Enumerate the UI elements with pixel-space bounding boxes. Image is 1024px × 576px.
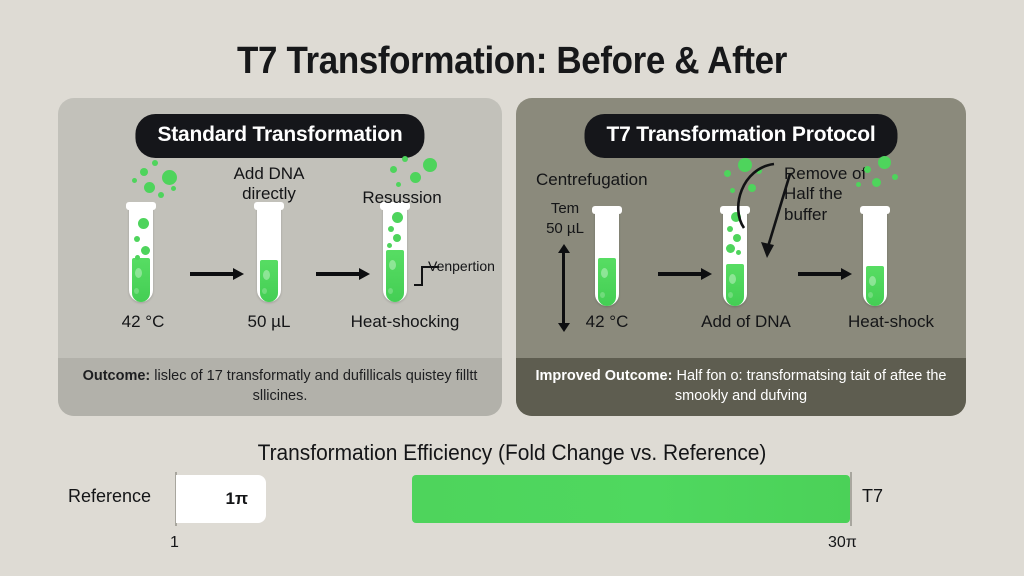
- annotation-resuspension: Resussion: [343, 188, 461, 208]
- test-tube-left-3: [380, 198, 410, 302]
- bar-reference-value: 1π: [226, 489, 248, 509]
- arrow-shaft: [316, 272, 359, 276]
- annotation-volume-top: Tem: [530, 200, 600, 218]
- step-label-right-3: Heat-shock: [826, 312, 956, 332]
- chart-category-t7: T7: [862, 486, 883, 507]
- bubble-icon: [152, 160, 158, 166]
- panel-right-body: T7 Transformation Protocol Centrefugatio…: [516, 98, 966, 358]
- step-label-left-3: Heat-shocking: [330, 312, 480, 332]
- arrow-shaft: [190, 272, 233, 276]
- test-tube-left-2: [254, 198, 284, 302]
- flow-arrow-left-1: [190, 268, 244, 280]
- test-tube-right-1: [592, 202, 622, 306]
- annotation-volume-bottom: 50 µL: [530, 220, 600, 238]
- arrow-shaft: [658, 272, 701, 276]
- footer-right-text: Half fon o: transformatsing tait of afte…: [672, 368, 946, 404]
- tube-liquid: [386, 250, 404, 302]
- tube-liquid: [866, 266, 884, 306]
- panel-left-body: Standard Transformation 42 °C: [58, 98, 502, 358]
- bubble-icon: [392, 212, 403, 223]
- annotation-add-dna: Add DNAdirectly: [213, 164, 325, 205]
- bubble-icon: [892, 174, 898, 180]
- bubble-icon: [872, 178, 881, 187]
- bubble-icon: [864, 166, 871, 173]
- panel-right-footer: Improved Outcome: Half fon o: transforma…: [516, 358, 966, 416]
- bubble-icon: [423, 158, 437, 172]
- bubble-icon: [390, 166, 397, 173]
- bubble-icon: [141, 246, 150, 255]
- test-tube-right-3: [860, 202, 890, 306]
- axis-tick-right: [850, 472, 852, 526]
- chart-category-reference: Reference: [68, 486, 151, 507]
- footer-left-strong: Outcome:: [83, 368, 151, 384]
- test-tube-left-1: [126, 198, 156, 302]
- arrow-head: [841, 268, 852, 280]
- bubble-icon: [393, 234, 401, 242]
- flow-arrow-right-2: [798, 268, 852, 280]
- step-label-right-1: 42 °C: [552, 312, 662, 332]
- bubble-icon: [396, 182, 401, 187]
- arrow-head: [701, 268, 712, 280]
- axis-tick-label-min: 1: [170, 534, 179, 552]
- bubble-icon: [402, 156, 408, 162]
- panel-left-badge: Standard Transformation: [135, 114, 424, 158]
- bar-t7[interactable]: [412, 475, 850, 523]
- flow-arrow-right-1: [658, 268, 712, 280]
- bubble-icon: [144, 182, 155, 193]
- step-label-left-1: 42 °C: [88, 312, 198, 332]
- bubble-icon: [158, 192, 164, 198]
- efficiency-bar-chart: Reference 1π T7 1 30π: [0, 472, 1024, 562]
- bubble-icon: [388, 226, 394, 232]
- panel-standard-transformation: Standard Transformation 42 °C: [58, 98, 502, 416]
- annotation-centrifugation: Centrefugation: [536, 170, 706, 190]
- panel-left-footer: Outcome: lislec of 17 transformatly and …: [58, 358, 502, 416]
- footer-left-text: lislec of 17 transformatly and dufillica…: [150, 368, 477, 404]
- bubble-icon: [135, 255, 140, 260]
- panel-t7-protocol: T7 Transformation Protocol Centrefugatio…: [516, 98, 966, 416]
- tube-liquid: [132, 258, 150, 302]
- axis-tick-label-max: 30π: [828, 534, 857, 552]
- step-label-right-2: Add of DNA: [676, 312, 816, 332]
- page-title: T7 Transformation: Before & After: [41, 40, 983, 83]
- bubble-icon: [134, 236, 140, 242]
- bubble-icon: [171, 186, 176, 191]
- bubble-icon: [878, 156, 891, 169]
- bubble-icon: [162, 170, 177, 185]
- infographic-root: T7 Transformation: Before & After Standa…: [0, 0, 1024, 576]
- bubble-icon: [132, 178, 137, 183]
- arrow-head: [233, 268, 244, 280]
- arrow-shaft: [798, 272, 841, 276]
- tube-rim: [126, 202, 156, 210]
- bubble-icon: [140, 168, 148, 176]
- bubble-icon: [138, 218, 149, 229]
- footer-right-strong: Improved Outcome:: [535, 368, 672, 384]
- step-label-left-2: 50 µL: [214, 312, 324, 332]
- annotation-venpertion: Venpertion: [428, 258, 502, 275]
- chart-title: Transformation Efficiency (Fold Change v…: [26, 440, 999, 466]
- bubble-icon: [410, 172, 421, 183]
- tube-liquid: [598, 258, 616, 306]
- flow-arrow-left-2: [316, 268, 370, 280]
- tube-liquid: [260, 260, 278, 302]
- bubble-icon: [856, 182, 861, 187]
- tube-rim: [860, 206, 890, 214]
- tube-rim: [592, 206, 622, 214]
- bar-reference[interactable]: 1π: [176, 475, 266, 523]
- bubble-icon: [387, 243, 392, 248]
- arrow-head: [359, 268, 370, 280]
